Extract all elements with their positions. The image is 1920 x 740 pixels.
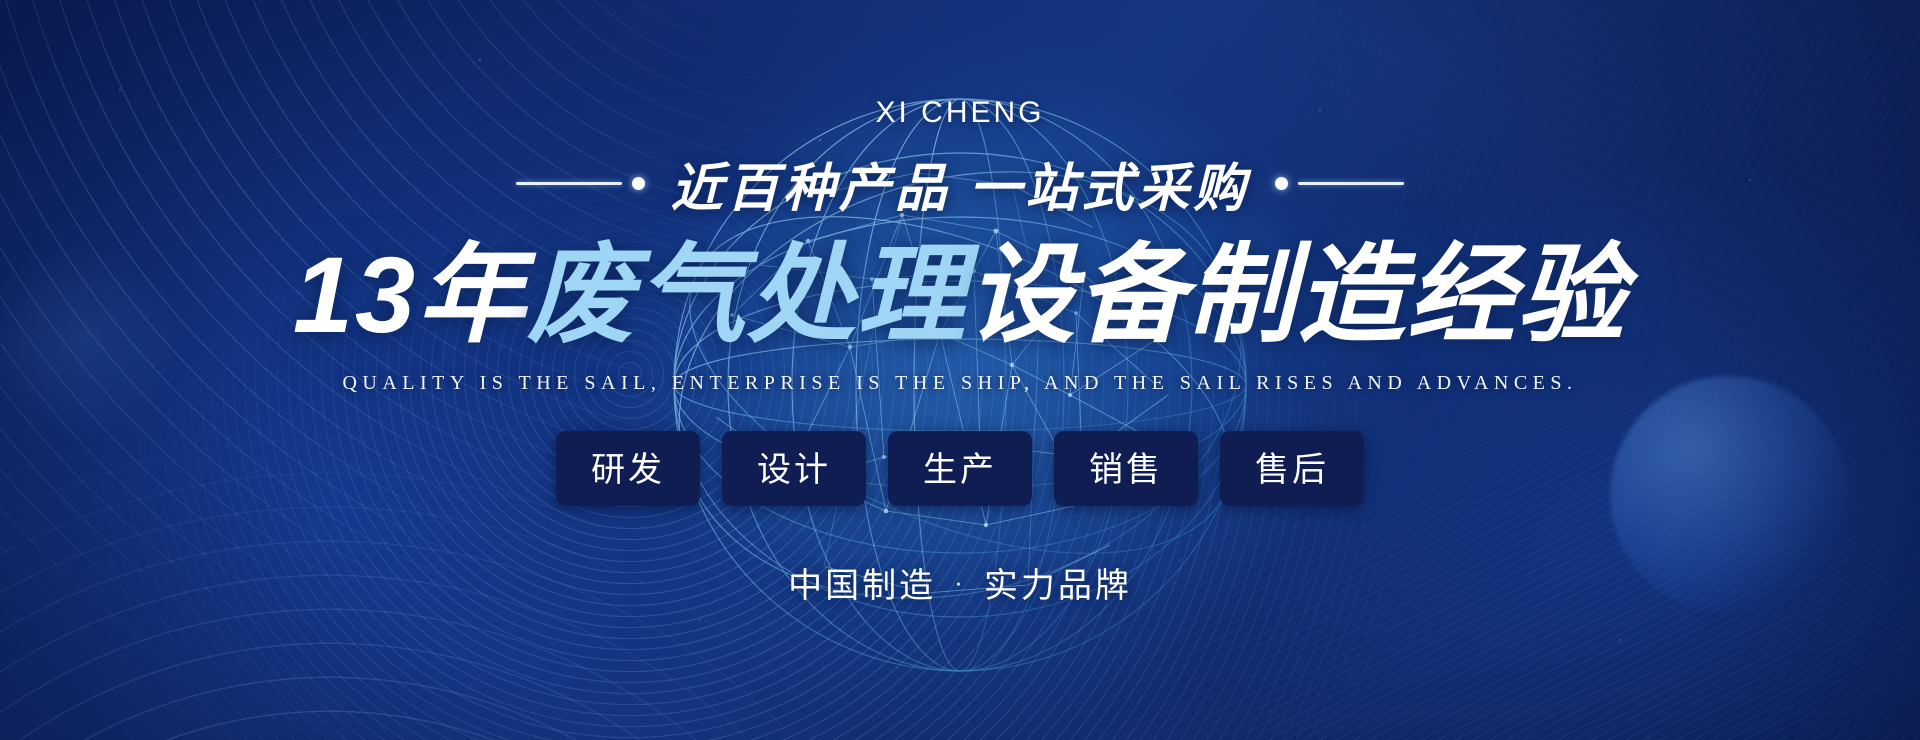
banner-headline: 13年废气处理设备制造经验 xyxy=(293,235,1627,356)
pill-research-development[interactable]: 研发 xyxy=(556,431,700,506)
english-tagline: QUALITY IS THE SAIL, ENTERPRISE IS THE S… xyxy=(342,372,1577,395)
footer-slogan-left: 中国制造 xyxy=(788,558,936,607)
deco-dot-icon xyxy=(1275,177,1288,190)
deco-line-segment xyxy=(516,182,622,185)
pill-sales[interactable]: 销售 xyxy=(1054,431,1198,506)
banner-footer-slogan: 中国制造 · 实力品牌 xyxy=(788,558,1132,607)
decorative-line-right xyxy=(1275,177,1404,190)
pill-production[interactable]: 生产 xyxy=(888,431,1032,506)
decorative-line-left xyxy=(516,177,645,190)
hero-banner: XI CHENG 近百种产品 一站式采购 13年废气处理设备制造经验 QUALI… xyxy=(0,0,1920,740)
deco-dot-icon xyxy=(632,177,645,190)
headline-part-accent: 废气处理 xyxy=(527,234,967,355)
pill-design[interactable]: 设计 xyxy=(722,431,866,506)
headline-part-years: 13年 xyxy=(293,234,527,355)
subtitle-row: 近百种产品 一站式采购 xyxy=(516,146,1404,221)
footer-separator-dot: · xyxy=(954,567,966,598)
footer-slogan-right: 实力品牌 xyxy=(984,558,1132,607)
deco-line-segment xyxy=(1298,182,1404,185)
service-pill-row: 研发 设计 生产 销售 售后 xyxy=(556,431,1364,506)
headline-part-tail: 设备制造经验 xyxy=(967,234,1627,355)
banner-subtitle: 近百种产品 一站式采购 xyxy=(671,146,1249,221)
pill-after-sales[interactable]: 售后 xyxy=(1220,431,1364,506)
banner-content: XI CHENG 近百种产品 一站式采购 13年废气处理设备制造经验 QUALI… xyxy=(0,0,1920,740)
brand-name-english: XI CHENG xyxy=(875,96,1044,130)
